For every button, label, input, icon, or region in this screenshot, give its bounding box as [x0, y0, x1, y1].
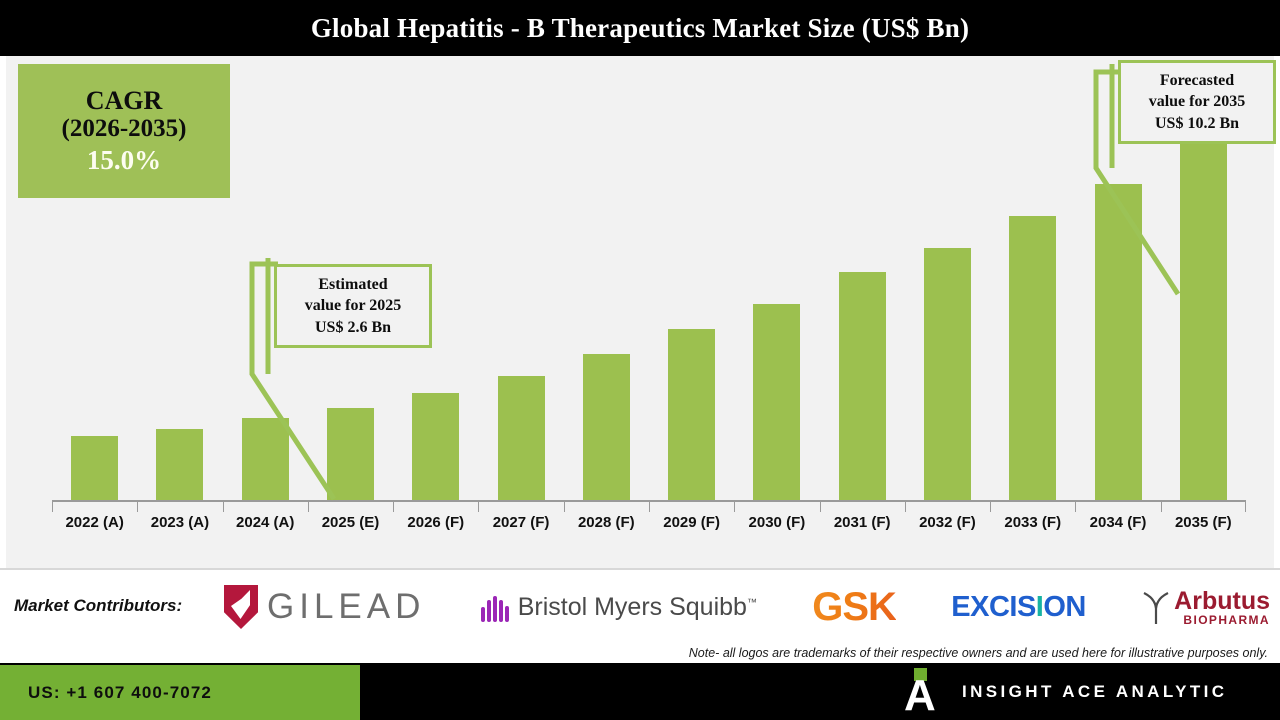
x-tick: [905, 502, 990, 512]
x-label-2026: 2026 (F): [393, 514, 478, 540]
bar-slot: [820, 116, 905, 500]
x-label-2025: 2025 (E): [308, 514, 393, 540]
bms-wordmark: Bristol Myers Squibb™: [518, 593, 757, 622]
x-label-2024: 2024 (A): [223, 514, 308, 540]
bms-trademark-symbol: ™: [747, 597, 757, 608]
bar-2022[interactable]: [71, 436, 118, 500]
footer-brand-name: INSIGHT ACE ANALYTIC: [962, 682, 1227, 702]
x-label-2027: 2027 (F): [478, 514, 563, 540]
bar-slot: [990, 116, 1075, 500]
footer-brand-block: A INSIGHT ACE ANALYTIC: [900, 663, 1227, 720]
forecasted-line-1: Forecasted: [1160, 70, 1234, 91]
x-label-2023: 2023 (A): [137, 514, 222, 540]
bar-2023[interactable]: [156, 429, 203, 500]
bar-2026[interactable]: [412, 393, 459, 500]
x-tick: [137, 502, 222, 512]
forecasted-line-3: US$ 10.2 Bn: [1155, 113, 1239, 134]
market-contributors-label: Market Contributors:: [14, 596, 182, 616]
estimated-line-3: US$ 2.6 Bn: [315, 317, 391, 338]
x-axis-ticks: [52, 502, 1246, 512]
bar-2031[interactable]: [839, 272, 886, 500]
chart-panel: CAGR (2026-2035) 15.0% 2022 (A)2023 (A)2…: [0, 56, 1280, 568]
gilead-wordmark: GILEAD: [267, 587, 425, 627]
x-tick: [990, 502, 1075, 512]
excision-wordmark: EXCISION: [951, 591, 1086, 624]
logo-disclaimer-note: Note- all logos are trademarks of their …: [689, 646, 1268, 660]
x-label-2028: 2028 (F): [564, 514, 649, 540]
insightace-logo-icon: A: [900, 668, 940, 716]
arbutus-tree-icon: [1141, 590, 1171, 624]
x-tick: [223, 502, 308, 512]
bar-2029[interactable]: [668, 329, 715, 500]
bar-2027[interactable]: [498, 376, 545, 500]
bar-slot: [52, 116, 137, 500]
x-label-2029: 2029 (F): [649, 514, 734, 540]
x-axis-labels: 2022 (A)2023 (A)2024 (A)2025 (E)2026 (F)…: [52, 514, 1246, 540]
bar-slot: [905, 116, 990, 500]
x-label-2030: 2030 (F): [734, 514, 819, 540]
bar-slot: [649, 116, 734, 500]
x-tick: [478, 502, 563, 512]
estimated-value-callout: Estimated value for 2025 US$ 2.6 Bn: [274, 264, 432, 348]
arbutus-subtitle: BIOPHARMA: [1174, 614, 1270, 626]
bar-series: [52, 116, 1246, 500]
x-label-2032: 2032 (F): [905, 514, 990, 540]
x-tick: [649, 502, 734, 512]
footer-contact-block: US: +1 607 400-7072: [0, 665, 360, 720]
x-label-2035: 2035 (F): [1161, 514, 1246, 540]
bar-slot: [478, 116, 563, 500]
page-title: Global Hepatitis - B Therapeutics Market…: [311, 13, 969, 44]
footer-phone-number[interactable]: US: +1 607 400-7072: [28, 683, 212, 703]
bar-slot: [564, 116, 649, 500]
gilead-logo: GILEAD: [224, 585, 425, 629]
x-tick: [564, 502, 649, 512]
footer-bar: US: +1 607 400-7072 A INSIGHT ACE ANALYT…: [0, 663, 1280, 720]
excision-text-b: ON: [1043, 591, 1086, 623]
x-tick: [52, 502, 137, 512]
bar-2028[interactable]: [583, 354, 630, 500]
gilead-shield-icon: [224, 585, 258, 629]
plot-area: 2022 (A)2023 (A)2024 (A)2025 (E)2026 (F)…: [46, 56, 1252, 568]
x-tick: [308, 502, 393, 512]
x-label-2022: 2022 (A): [52, 514, 137, 540]
bar-2033[interactable]: [1009, 216, 1056, 500]
contributor-logos: GILEAD Bristol Myers Squibb™ GSK EXCISIO…: [224, 578, 1270, 636]
arbutus-name: Arbutus: [1174, 589, 1270, 614]
x-tick: [734, 502, 819, 512]
gsk-wordmark: GSK: [812, 585, 896, 630]
excision-logo: EXCISION: [951, 591, 1086, 624]
bar-slot: [137, 116, 222, 500]
insightace-letter-a: A: [904, 677, 937, 716]
bms-handprint-icon: [481, 592, 509, 622]
x-tick: [1075, 502, 1160, 512]
bar-2032[interactable]: [924, 248, 971, 500]
x-tick: [393, 502, 478, 512]
estimated-line-2: value for 2025: [305, 295, 402, 316]
x-tick: [820, 502, 905, 512]
gsk-logo: GSK: [812, 585, 896, 630]
bms-wordmark-text: Bristol Myers Squibb: [518, 593, 747, 621]
bar-2030[interactable]: [753, 304, 800, 500]
x-label-2033: 2033 (F): [990, 514, 1075, 540]
excision-text-a: EXCIS: [951, 591, 1036, 623]
arbutus-logo: Arbutus BIOPHARMA: [1141, 589, 1270, 626]
title-bar: Global Hepatitis - B Therapeutics Market…: [0, 0, 1280, 56]
estimated-line-1: Estimated: [318, 274, 387, 295]
arbutus-wordmark: Arbutus BIOPHARMA: [1174, 589, 1270, 626]
bar-slot: [734, 116, 819, 500]
x-label-2031: 2031 (F): [820, 514, 905, 540]
bristol-myers-squibb-logo: Bristol Myers Squibb™: [481, 592, 757, 622]
market-contributors-strip: Market Contributors: GILEAD Bristol Myer…: [0, 568, 1280, 663]
x-tick: [1161, 502, 1246, 512]
forecasted-value-callout: Forecasted value for 2035 US$ 10.2 Bn: [1118, 60, 1276, 144]
forecasted-line-2: value for 2035: [1149, 91, 1246, 112]
x-label-2034: 2034 (F): [1075, 514, 1160, 540]
